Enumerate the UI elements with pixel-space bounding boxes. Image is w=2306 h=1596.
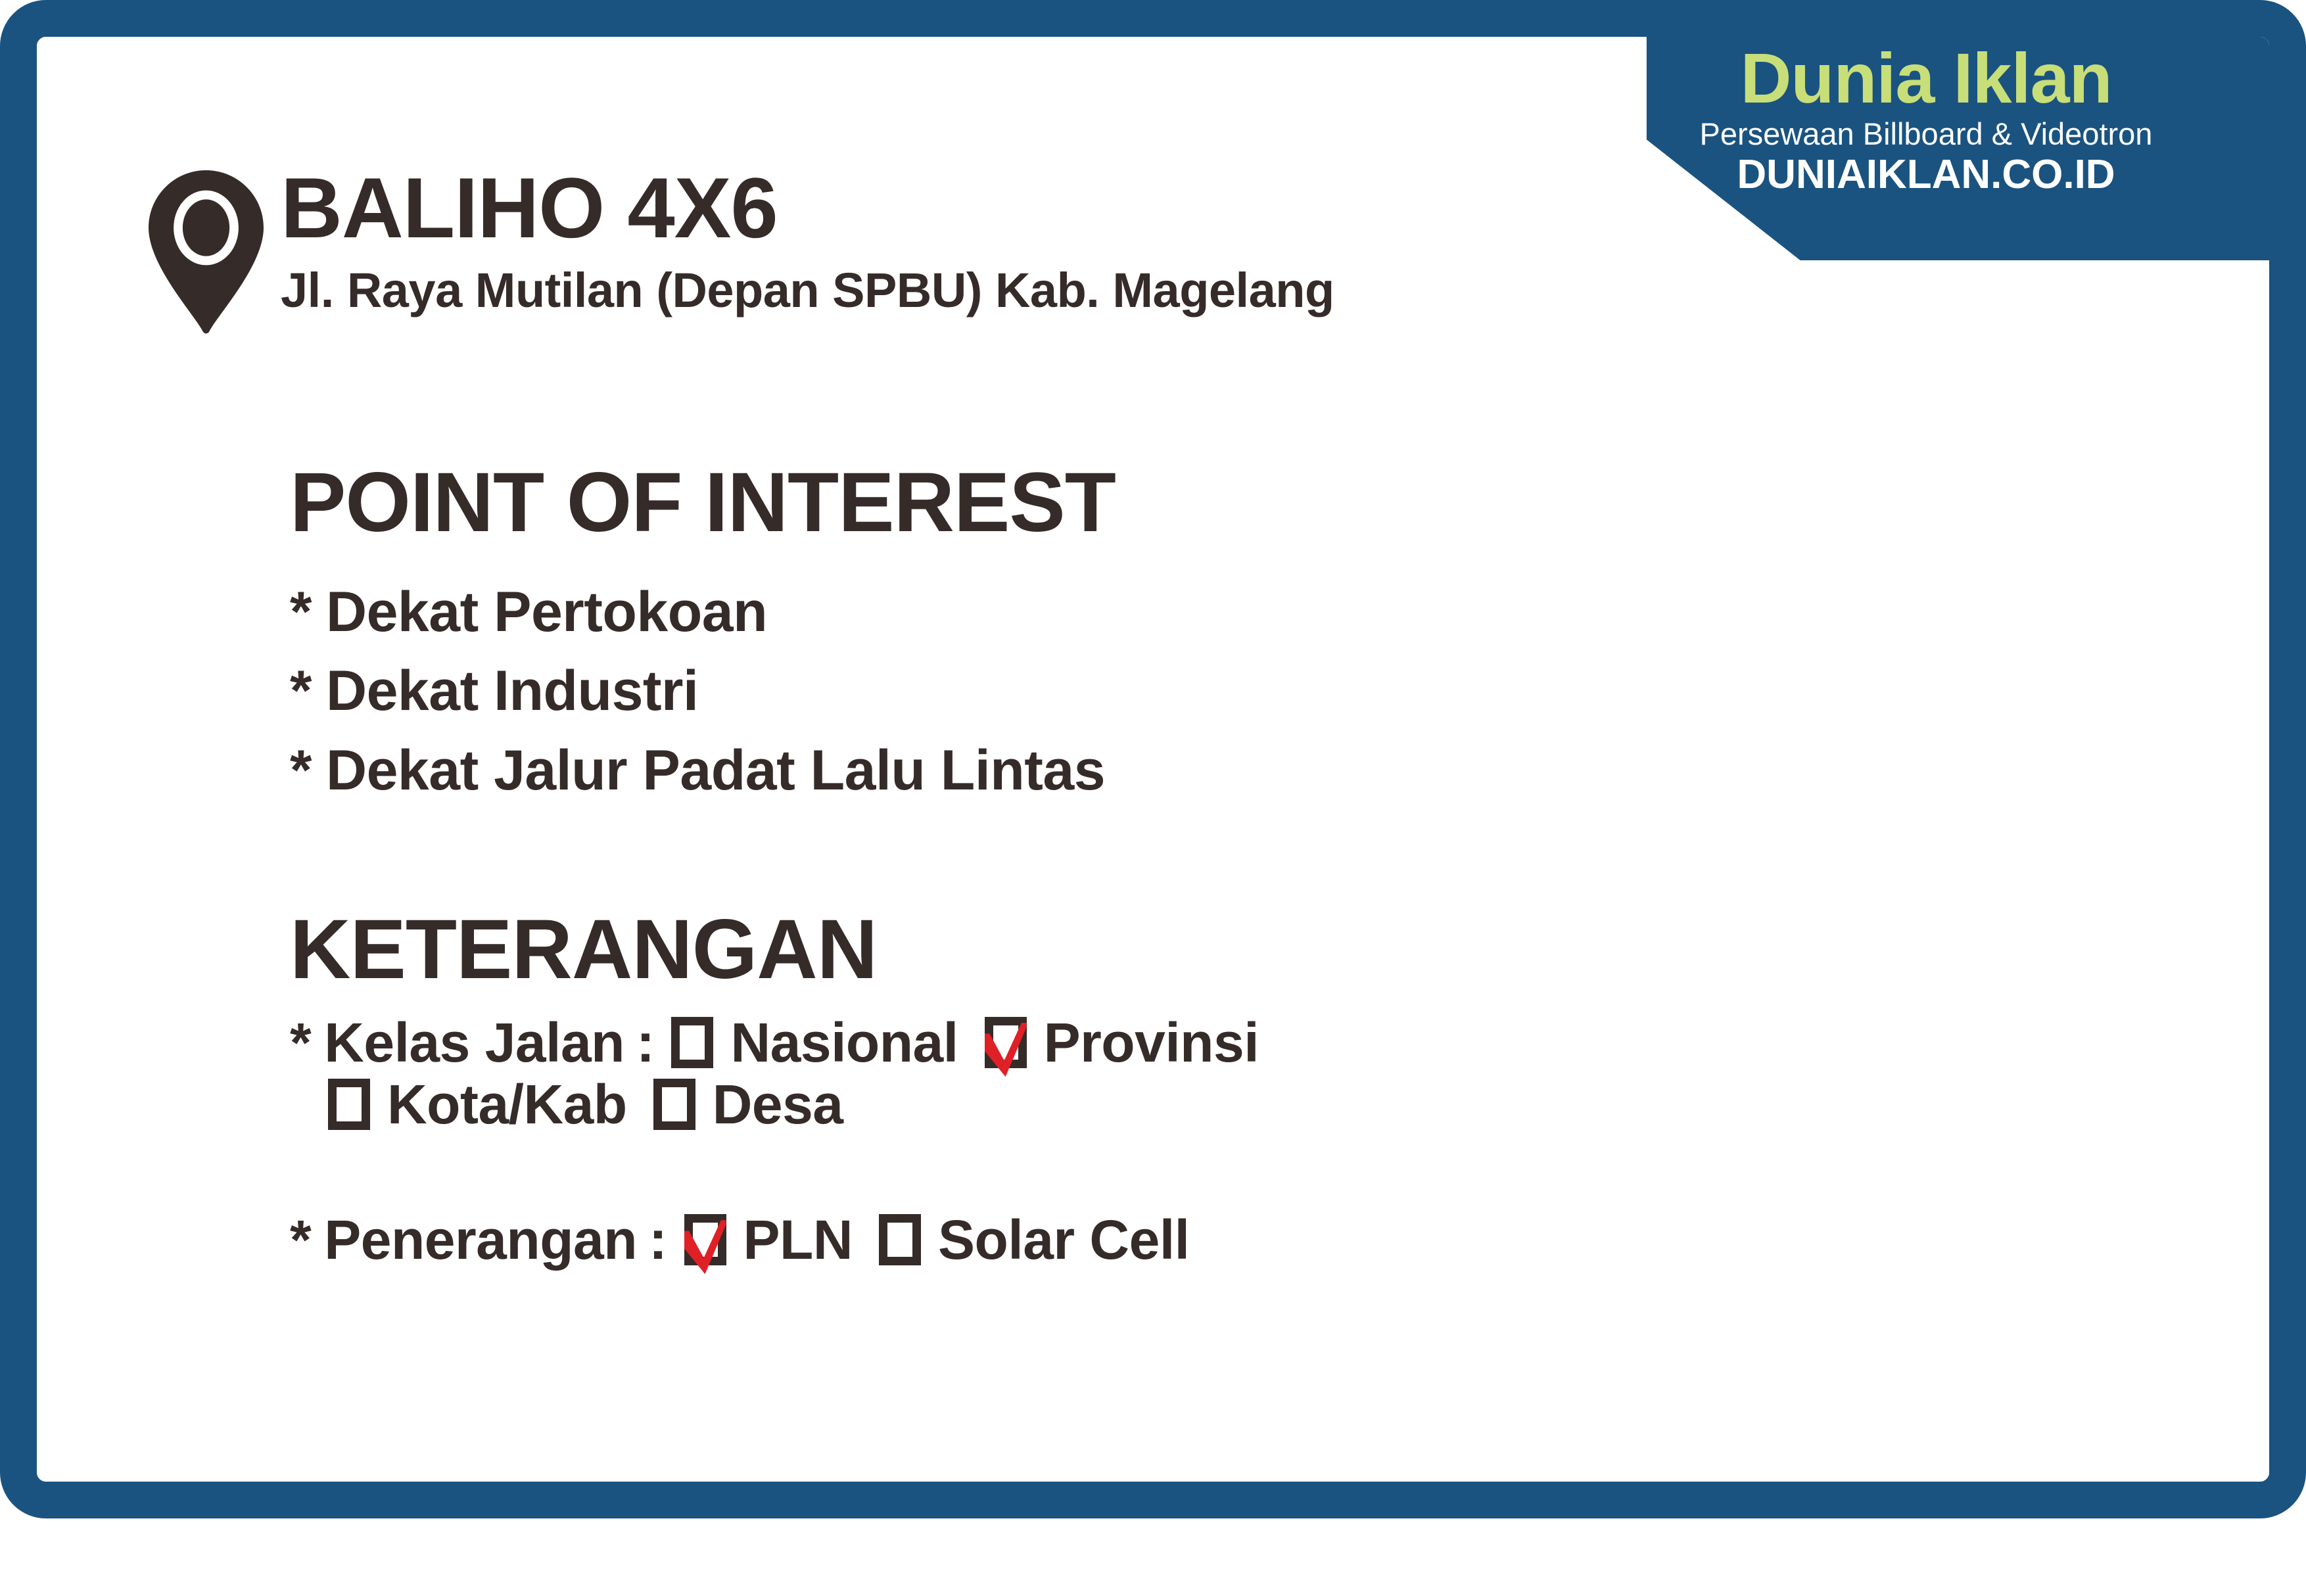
keterangan-fields: * Kelas Jalan : Nasional Provinsi Kota/K… (290, 1012, 2262, 1271)
option-label-kota-kab: Kota/Kab (387, 1073, 627, 1135)
field-colon: : (636, 1012, 654, 1073)
list-item: *Dekat Pertokoan (290, 573, 2196, 651)
option-provinsi[interactable]: Provinsi (985, 1012, 1259, 1073)
bullet-star-icon: * (290, 739, 312, 802)
option-label-provinsi: Provinsi (1044, 1012, 1259, 1073)
field-label-kelas-jalan: Kelas Jalan (324, 1012, 624, 1073)
checkbox-desa[interactable] (653, 1079, 695, 1130)
field-colon: : (649, 1209, 667, 1271)
checkbox-pln[interactable] (684, 1214, 726, 1265)
keterangan-heading: KETERANGAN (290, 908, 2262, 992)
field-kelas-jalan-row2: Kota/Kab Desa (328, 1073, 2262, 1135)
poi-item-label: Dekat Industri (326, 659, 698, 722)
brand-logo-stack: Dunia Iklan Persewaan Billboard & Videot… (1597, 42, 2255, 195)
option-label-desa: Desa (713, 1073, 843, 1135)
option-desa[interactable]: Desa (653, 1073, 843, 1135)
option-solar-cell[interactable]: Solar Cell (879, 1209, 1189, 1271)
field-penerangan: * Penerangan : PLN Solar Cell (290, 1209, 2262, 1271)
list-item: *Dekat Industri (290, 651, 2196, 730)
brand-tagline: Persewaan Billboard & Videotron (1597, 118, 2255, 149)
poi-list: *Dekat Pertokoan *Dekat Industri *Dekat … (290, 573, 2196, 810)
option-pln[interactable]: PLN (684, 1209, 853, 1271)
option-nasional[interactable]: Nasional (671, 1012, 958, 1073)
brand-name: Dunia Iklan (1597, 42, 2255, 114)
bullet-star-icon: * (290, 1209, 311, 1271)
poi-item-label: Dekat Pertokoan (326, 580, 767, 644)
option-label-pln: PLN (743, 1209, 853, 1271)
field-kelas-jalan: * Kelas Jalan : Nasional Provinsi (290, 1012, 2262, 1073)
keterangan-section: KETERANGAN * Kelas Jalan : Nasional Prov… (290, 908, 2262, 1271)
location-pin-icon (149, 170, 264, 335)
checkbox-kota-kab[interactable] (328, 1079, 370, 1130)
option-kota-kab[interactable]: Kota/Kab (328, 1073, 627, 1135)
billboard-header-text: BALIHO 4X6 Jl. Raya Mutilan (Depan SPBU)… (281, 165, 1334, 316)
billboard-address: Jl. Raya Mutilan (Depan SPBU) Kab. Magel… (281, 265, 1334, 316)
checkbox-provinsi[interactable] (985, 1017, 1027, 1068)
poi-item-label: Dekat Jalur Padat Lalu Lintas (326, 739, 1105, 802)
option-label-solar-cell: Solar Cell (938, 1209, 1189, 1271)
bullet-star-icon: * (290, 659, 312, 722)
billboard-header: BALIHO 4X6 Jl. Raya Mutilan (Depan SPBU)… (149, 165, 1334, 335)
poi-heading: POINT OF INTEREST (290, 461, 2196, 545)
point-of-interest-section: POINT OF INTEREST *Dekat Pertokoan *Deka… (290, 461, 2196, 810)
field-label-penerangan: Penerangan (324, 1209, 637, 1271)
billboard-info-card: Dunia Iklan Persewaan Billboard & Videot… (0, 0, 2306, 1518)
bullet-star-icon: * (290, 1012, 311, 1073)
checkbox-nasional[interactable] (671, 1017, 713, 1068)
checkbox-solar-cell[interactable] (879, 1214, 921, 1265)
bullet-star-icon: * (290, 580, 312, 644)
option-label-nasional: Nasional (730, 1012, 958, 1073)
page-title: BALIHO 4X6 (281, 165, 1334, 250)
list-item: *Dekat Jalur Padat Lalu Lintas (290, 731, 2196, 810)
